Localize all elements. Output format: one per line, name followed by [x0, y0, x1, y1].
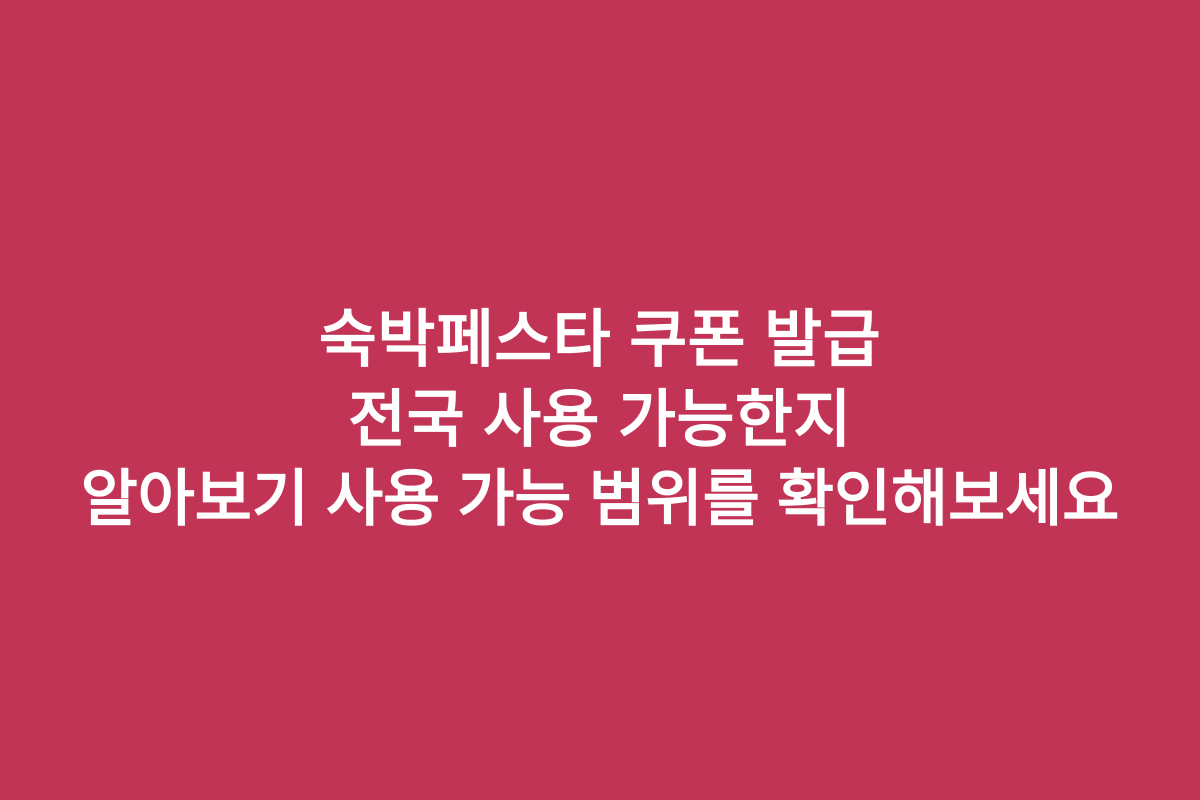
- headline-line-3: 알아보기 사용 가능 범위를 확인해보세요: [14, 460, 1186, 540]
- headline-line-1: 숙박페스타 쿠폰 발급: [14, 300, 1186, 380]
- thumbnail-canvas: 숙박페스타 쿠폰 발급 전국 사용 가능한지 알아보기 사용 가능 범위를 확인…: [0, 0, 1200, 800]
- headline-block: 숙박페스타 쿠폰 발급 전국 사용 가능한지 알아보기 사용 가능 범위를 확인…: [0, 300, 1200, 540]
- headline-line-2: 전국 사용 가능한지: [14, 380, 1186, 460]
